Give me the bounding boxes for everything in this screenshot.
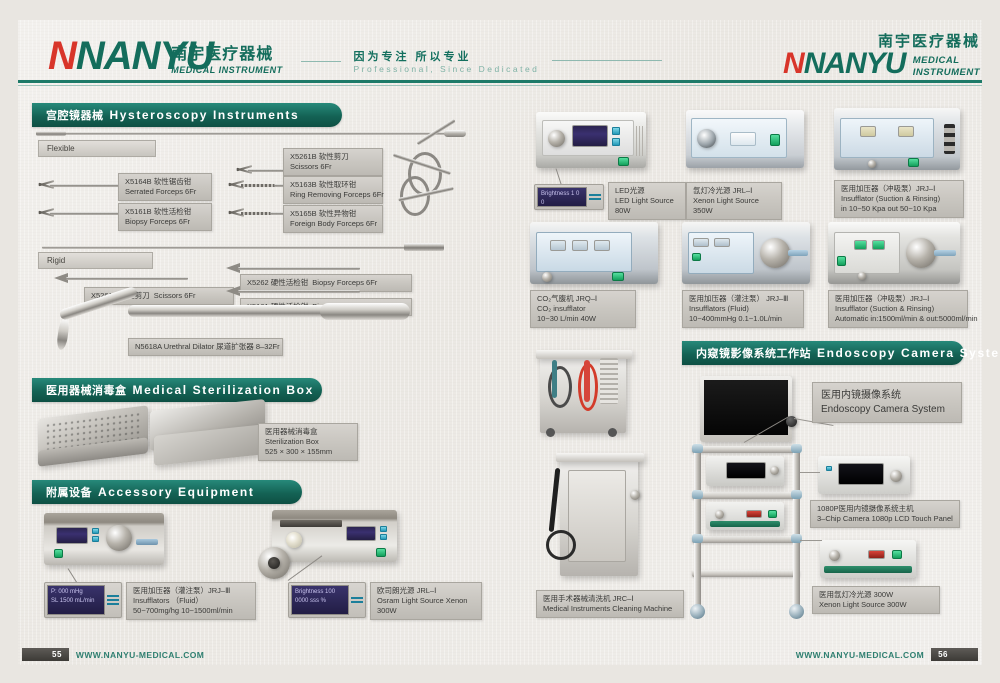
caption-osram-light-source: 欧司朗光源 JRL–Ⅰ Osram Light Source Xenon 300… [370,582,482,620]
section-header-hysteroscopy: 宫腔镜器械 Hysteroscopy Instruments [32,103,342,127]
caption-x5163b-ring: X5163B 软性取环钳 Ring Removing Forceps 6Fr [283,176,383,204]
caption-xenon300-en: Xenon Light Source 300W [819,600,933,610]
callout-led-screen-fluid: P: 000 mHg SL 1500 mL/min [47,585,105,615]
group-label-rigid: Rigid [38,252,153,269]
caption-insufflator-fluid-spec: 50~700mg/hg 10~1500ml/min [133,606,249,616]
caption-sterilization-en: Sterilization Box [265,437,351,447]
led-light-btn-down[interactable] [612,138,620,146]
caption-x5262-cn: X5262 硬性活检钳 [247,278,308,288]
cleaning-machine-upper-caster-2 [608,428,617,437]
insufflator-fluid2-pump-rotor[interactable] [760,238,790,268]
slogan-dash-right [552,60,662,61]
caption-co2-spec: 10~30 L/min 40W [537,314,629,324]
page-edge-bottom [0,665,1000,683]
caption-x5262-en: Biopsy Forceps 6Fr [312,278,377,288]
xenon-300w-display [868,550,885,559]
logo-sub-en: MEDICAL INSTRUMENT [171,65,282,75]
caption-x5261b-en: Scissors 6Fr [290,162,376,172]
device-xenon-light-source [686,110,804,168]
insufflator-suction1-faceplate [840,118,934,158]
callout-led-light-source: Brightness 1 0 0 0000 ssss % [534,184,604,210]
caption-sterilization-spec: 525 × 300 × 155mm [265,447,351,457]
trolley-post-left [694,446,701,610]
caption-x5164b-serrated: X5164B 软性锯齿钳 Serrated Forceps 6Fr [118,173,212,201]
xenon-300w-power-button[interactable] [892,550,902,559]
trolley-shelf-2 [692,492,800,499]
co2-display-a [550,240,566,251]
caption-camera-panel: 1080P医用内镜摄像系统主机 3–Chip Camera 1080p LCD … [810,500,960,528]
caption-x5161b-en: Biopsy Forceps 6Fr [125,217,205,227]
trolley-light-unit [706,502,784,530]
osram-power-button[interactable] [376,548,386,557]
caption-x5164b-en: Serrated Forceps 6Fr [125,187,205,197]
camera-control-unit-button[interactable] [826,466,832,471]
leader-line-xenon-300w [800,540,822,541]
caption-x5261e-en: Scissors 6Fr [154,291,196,301]
cleaning-machine-red-hose [584,360,590,402]
section-header-camera-system: 内窥镜影像系统工作站 Endoscopy Camera System [682,341,964,365]
cleaning-machine-upper-top [536,350,632,359]
page-number-left: 55 [22,648,69,661]
insufflator-suction1-display-b [898,126,914,137]
section-hysteroscopy-cn: 宫腔镜器械 [46,107,104,123]
caption-x5261b-cn: X5261B 软性剪刀 [290,152,376,162]
caption-fluid2-en: Insufflators (Fluid) [689,304,797,314]
callout-led-keys-fluid[interactable] [105,595,119,605]
dilator-handle [320,303,410,320]
trolley-light-unit-port[interactable] [715,510,724,519]
page-edge-left [0,0,18,683]
caption-suction1-spec: in 10~50 Kpa out 50~10 Kpa [841,204,957,214]
caption-x5163b-cn: X5163B 软性取环钳 [290,180,376,190]
rigid-hysteroscope-shaft [42,246,412,249]
insufflator-suction2-faceplate [834,232,900,274]
section-camera-en: Endoscopy Camera System [817,346,1000,360]
trolley-joint-1 [692,444,703,453]
caption-x5161b-biopsy: X5161B 软性活检钳 Biopsy Forceps 6Fr [118,203,212,231]
caption-xenon-en: Xenon Light Source [693,196,775,206]
callout-led-screen-light: Brightness 1 0 0 0000 ssss % [537,187,587,207]
flex-foreign-serration [241,212,271,215]
caption-camera-system: 医用内镜摄像系统 Endoscopy Camera System [812,382,962,423]
caption-x5165b-en: Foreign Body Forceps 6Fr [290,219,376,229]
rigid-biopsy2-shaft [238,290,360,293]
osram-fiber-adapter-hole [268,557,280,569]
section-header-sterilization: 医用器械消毒盒 Medical Sterilization Box [32,378,322,402]
trolley-post-right [793,446,800,610]
caption-insufflator-suction-1: 医用加压器（冲吸泵）JRJ–Ⅰ Insufflator (Suction & R… [834,180,964,218]
flex-ring-serration [241,184,275,187]
insufflator-fluid-btn-1[interactable] [92,528,99,534]
insufflator-suction2-power-button[interactable] [837,256,846,266]
caption-suction1-en: Insufflator (Suction & Rinsing) [841,194,957,204]
insufflator-fluid2-display-b [714,238,730,247]
caption-osram-spec: 300W [377,606,475,616]
caption-x5164b-cn: X5164B 软性锯齿钳 [125,177,205,187]
insufflator-suction2-display-a [854,240,867,250]
xenon-300w-fiber-port[interactable] [829,550,840,561]
footer-right: WWW.NANYU-MEDICAL.COM 56 [796,648,978,661]
device-led-light-source [536,112,646,168]
insufflator-fluid2-display-a [693,238,709,247]
caption-xenon300-cn: 医用氙灯冷光源 300W [819,590,933,600]
section-sterilization-en: Medical Sterilization Box [133,383,314,397]
rigid-biopsy1-shaft [238,267,360,270]
caption-camera-system-en: Endoscopy Camera System [821,403,953,417]
dilator-shaft [128,305,328,317]
insufflator-suction1-port[interactable] [868,160,876,168]
cleaning-machine-lower-door[interactable] [568,470,626,562]
trolley-camera-unit-port[interactable] [770,466,779,475]
cleaning-machine-lower-valve[interactable] [630,490,640,500]
section-header-accessory: 附属设备 Accessory Equipment [32,480,302,504]
section-hysteroscopy-en: Hysteroscopy Instruments [110,108,300,122]
cleaning-machine-gray-hose [552,360,557,398]
page-edge-right [982,0,1000,683]
trolley-joint-2 [791,444,802,453]
flexible-hysteroscope-shaft [40,132,450,135]
callout-led-screen-osram: Brightness 100 0000 sss % [291,585,349,615]
co2-display-b [572,240,588,251]
caption-x5165b-cn: X5165B 软性异物钳 [290,209,376,219]
section-accessory-en: Accessory Equipment [98,485,254,499]
leader-line-camera-control [800,472,820,473]
caption-camera-system-cn: 医用内镜摄像系统 [821,389,953,403]
co2-display-c [594,240,610,251]
footer-url-right[interactable]: WWW.NANYU-MEDICAL.COM [796,650,924,660]
insufflator-suction2-port[interactable] [858,272,866,280]
led-line1-osram: Brightness 100 [295,588,345,597]
slogan-dash-left [301,61,341,62]
caption-camera-panel-cn: 1080P医用内镜摄像系统主机 [817,504,953,514]
device-insufflator-suction-1 [834,108,960,170]
xenon-fiber-port[interactable] [697,129,716,148]
device-insufflator-fluid [44,513,164,565]
logo-right-letter-n: N [783,47,804,80]
section-accessory-cn: 附属设备 [46,484,92,500]
callout-led-keys-osram[interactable] [349,597,363,603]
caption-led-cn: LED光源 [615,186,679,196]
co2-gas-port[interactable] [542,272,552,282]
caption-co2-insufflator: CO₂气腹机 JRQ–Ⅰ CO₂ insufflator 10~30 L/min… [530,290,636,328]
device-xenon-300w [820,540,916,578]
trolley-light-unit-button[interactable] [768,510,777,518]
caption-suction2-cn: 医用加压器（冲吸泵）JRJ–Ⅰ [835,294,961,304]
insufflator-suction1-power-button[interactable] [908,158,919,167]
caption-cleaning-cn: 医用手术器械清洗机 JRC–Ⅰ [543,594,677,604]
device-camera-control-unit [818,456,910,494]
co2-faceplate [536,232,632,272]
led-light-display [572,125,608,147]
caption-insufflator-fluid: 医用加压器（灌注泵）JRJ–Ⅲ Insufflators （Fluid） 50~… [126,582,256,620]
caption-insufflator-fluid-en: Insufflators （Fluid） [133,596,249,606]
trolley-monitor-screen [704,380,788,435]
led-light-knob[interactable] [548,130,565,147]
device-co2-insufflator [530,222,658,284]
caption-insufflator-fluid-2: 医用加压器（灌注泵） JRJ–Ⅲ Insufflators (Fluid) 10… [682,290,804,328]
insufflator-fluid-tube-port [136,539,158,545]
cleaning-machine-lower-top [556,453,644,462]
group-label-flexible: Flexible [38,140,156,157]
insufflator-fluid-display [56,527,88,544]
flexible-hysteroscope-handle [36,131,66,136]
trolley-monitor-frame [700,376,792,442]
caption-sterilization-cn: 医用器械消毒盒 [265,427,351,437]
caption-led-spec: 80W [615,206,679,216]
xenon-power-button[interactable] [770,134,780,146]
section-sterilization-cn: 医用器械消毒盒 [46,382,127,398]
trolley-camera-unit [706,456,784,486]
caption-xenon-cn: 氙灯冷光源 JRL–Ⅰ [693,186,775,196]
led-line1-light: Brightness 1 0 0 [541,190,583,207]
callout-led-keys-light[interactable] [587,194,601,200]
slogan-en: Professional, Since Dedicated [354,64,540,74]
caption-n5618a-dilator: N5618A Urethral Dilator 尿道扩张器 8–32Fr [128,338,283,356]
logo-brand-cn: 南宇医疗器械 [171,40,282,64]
insufflator-suction1-rear-ports [944,124,955,154]
insufflator-fluid2-power-button[interactable] [692,253,701,261]
led-line2-fluid: SL 1500 mL/min [51,597,101,606]
caption-xenon-spec: 350W [693,206,775,216]
page-edge-top [0,0,1000,20]
osram-light-port[interactable] [286,532,302,548]
logo-right-letters: NANYU [804,47,906,80]
camera-control-unit-connector[interactable] [890,470,902,482]
insufflator-fluid-btn-2[interactable] [92,536,99,542]
logo-right-instrument: INSTRUMENT [913,67,980,79]
rigid-scissors-shaft [66,277,188,280]
footer-url-left[interactable]: WWW.NANYU-MEDICAL.COM [76,650,204,660]
caption-osram-en: Osram Light Source Xenon [377,596,475,606]
caption-insufflator-suction-2: 医用加压器（冲吸泵）JRJ–Ⅰ Insufflator (Suction & R… [828,290,968,328]
logo-right-medical: MEDICAL [913,55,980,67]
insufflator-suction2-pump-rotor[interactable] [906,238,936,268]
trolley-joint-4 [791,490,802,499]
xenon-control-panel [730,132,756,146]
caption-osram-cn: 欧司朗光源 JRL–Ⅰ [377,586,475,596]
trolley-joint-3 [692,490,703,499]
caption-fluid2-cn: 医用加压器（灌注泵） JRJ–Ⅲ [689,294,797,304]
led-light-vent [636,126,644,156]
logo-letter-n: N [48,34,76,78]
insufflator-fluid-pump-rotor[interactable] [106,525,132,551]
caption-x5165b-foreign: X5165B 软性异物钳 Foreign Body Forceps 6Fr [283,205,383,233]
flexible-hysteroscope-tip [444,130,466,137]
brand-logo-left: NNANYU 南宇医疗器械 MEDICAL INSTRUMENT 因为专注 所以… [48,36,662,76]
trolley-camera-unit-screen [726,462,766,479]
footer-left: 55 WWW.NANYU-MEDICAL.COM [22,648,204,661]
trolley-light-unit-display [746,510,762,518]
cleaning-machine-lower-hose-loop [546,530,576,560]
trolley-shelf-3 [692,536,800,543]
caption-co2-cn: CO₂气腹机 JRQ–Ⅰ [537,294,629,304]
led-light-btn-up[interactable] [612,127,620,135]
trolley-caster-left [690,604,705,619]
camera-control-unit-touch-panel[interactable] [838,463,884,485]
caption-led-en: LED Light Source [615,196,679,206]
caption-xenon-light-source: 氙灯冷光源 JRL–Ⅰ Xenon Light Source 350W [686,182,782,220]
caption-fluid2-spec: 10~400mmHg 0.1~1.0L/min [689,314,797,324]
trolley-shelf-4 [692,570,800,577]
insufflator-suction2-display-b [872,240,885,250]
caption-xenon-300w: 医用氙灯冷光源 300W Xenon Light Source 300W [812,586,940,614]
caption-suction2-spec: Automatic in:1500ml/min & out:5000ml/min [835,314,961,324]
insufflator-suction2-tube [934,250,956,256]
page-number-right: 56 [931,648,978,661]
osram-btn-up[interactable] [380,526,387,532]
insufflator-fluid2-tube [788,250,808,256]
caption-sterilization-box: 医用器械消毒盒 Sterilization Box 525 × 300 × 15… [258,423,358,461]
osram-display [346,526,376,541]
trolley-joint-6 [791,534,802,543]
callout-led-insufflator-fluid: P: 000 mHg SL 1500 mL/min [44,582,122,618]
device-osram-light-source [272,510,397,562]
caption-cleaning-en: Medical Instruments Cleaning Machine [543,604,677,614]
callout-led-osram: Brightness 100 0000 sss % [288,582,366,618]
caption-suction2-en: Insufflator (Suction & Rinsing) [835,304,961,314]
caption-x5163b-en: Ring Removing Forceps 6Fr [290,190,376,200]
cleaning-machine-upper-caster-1 [546,428,555,437]
caption-x5261b-scissors: X5261B 软性剪刀 Scissors 6Fr [283,148,383,176]
caption-insufflator-fluid-cn: 医用加压器（灌注泵）JRJ–Ⅲ [133,586,249,596]
caption-led-light-source: LED光源 LED Light Source 80W [608,182,686,220]
caption-cleaning-machine: 医用手术器械清洗机 JRC–Ⅰ Medical Instruments Clea… [536,590,684,618]
trolley-shelf-1 [692,446,800,453]
cleaning-machine-upper-vent [600,358,618,404]
caption-n5618a-cn: N5618A Urethral Dilator 尿道扩张器 8–32Fr [135,342,280,352]
rigid-hysteroscope-body [404,243,444,251]
led-line1-fluid: P: 000 mHg [51,588,101,597]
caption-camera-panel-en: 3–Chip Camera 1080p LCD Touch Panel [817,514,953,524]
trolley-light-unit-stripe [710,521,780,527]
co2-power-button[interactable] [612,272,624,281]
osram-btn-down[interactable] [380,534,387,540]
section-camera-cn: 内窥镜影像系统工作站 [696,345,811,361]
insufflator-fluid-power-button[interactable] [54,549,63,558]
osram-brand-strip [280,520,342,527]
slogan-cn: 因为专注 所以专业 [354,48,540,64]
trolley-joint-5 [692,534,703,543]
brand-logo-right: 南宇医疗器械 NNANYU MEDICAL INSTRUMENT [783,30,980,79]
caption-co2-en: CO₂ insufflator [537,304,629,314]
header-divider-rule [18,80,982,83]
device-insufflator-suction-2 [828,222,960,284]
device-insufflator-fluid-2 [682,222,810,284]
led-light-power-button[interactable] [618,157,629,166]
trolley-caster-right [789,604,804,619]
led-line2-osram: 0000 sss % [295,597,345,606]
caption-x5161b-cn: X5161B 软性活检钳 [125,207,205,217]
caption-suction1-cn: 医用加压器（冲吸泵）JRJ–Ⅰ [841,184,957,194]
insufflator-suction1-display-a [860,126,876,137]
xenon-300w-stripe [824,566,912,573]
